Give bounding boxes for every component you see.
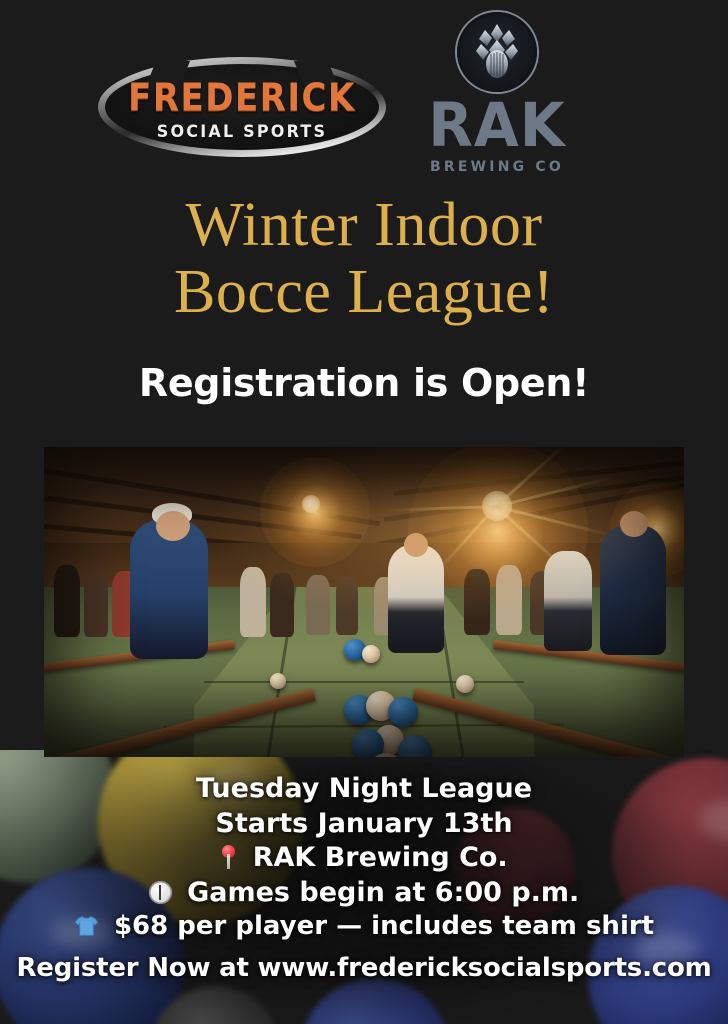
detail-text: Games begin at 6:00 p.m. (187, 877, 579, 908)
detail-text: $68 per player — includes team shirt (114, 911, 654, 941)
logo-row: FREDERICK SOCIAL SPORTS (0, 0, 728, 185)
hop-cone-emblem-icon (457, 12, 537, 92)
register-cta-text[interactable]: Register Now at www.fredericksocialsport… (0, 952, 728, 985)
headline-line-1: Winter Indoor (0, 192, 728, 259)
detail-text: RAK Brewing Co. (253, 842, 508, 873)
t-shirt-icon (74, 913, 99, 935)
detail-text: Tuesday Night League (196, 773, 532, 804)
registration-subheading: Registration is Open! (0, 361, 728, 405)
map-pin-icon (220, 845, 237, 869)
logo-wordmark: FREDERICK SOCIAL SPORTS (98, 81, 386, 140)
headline-line-2: Bocce League! (0, 259, 728, 326)
photo-vignette (44, 447, 684, 757)
rak-wordmark: RAK (418, 95, 576, 156)
details-block: Tuesday Night League Starts January 13th… (0, 772, 728, 986)
brewing-co-wordmark: BREWING CO (418, 159, 576, 175)
rak-brewing-logo: RAK BREWING CO (418, 12, 576, 172)
page-title: Winter Indoor Bocce League! (0, 192, 728, 326)
clock-icon (149, 881, 172, 904)
detail-line-venue: RAK Brewing Co. (0, 841, 728, 876)
frederick-wordmark: FREDERICK (98, 79, 386, 117)
detail-text: Starts January 13th (215, 808, 512, 839)
social-sports-wordmark: SOCIAL SPORTS (98, 124, 386, 141)
bocce-court-photo (44, 447, 684, 757)
detail-line-game-time: Games begin at 6:00 p.m. (0, 876, 728, 911)
detail-line-price: $68 per player — includes team shirt (0, 910, 728, 943)
frederick-social-sports-logo: FREDERICK SOCIAL SPORTS (98, 57, 386, 157)
flyer-poster: FREDERICK SOCIAL SPORTS (0, 0, 728, 1024)
detail-line-league-night: Tuesday Night League (0, 772, 728, 807)
detail-line-start-date: Starts January 13th (0, 807, 728, 842)
